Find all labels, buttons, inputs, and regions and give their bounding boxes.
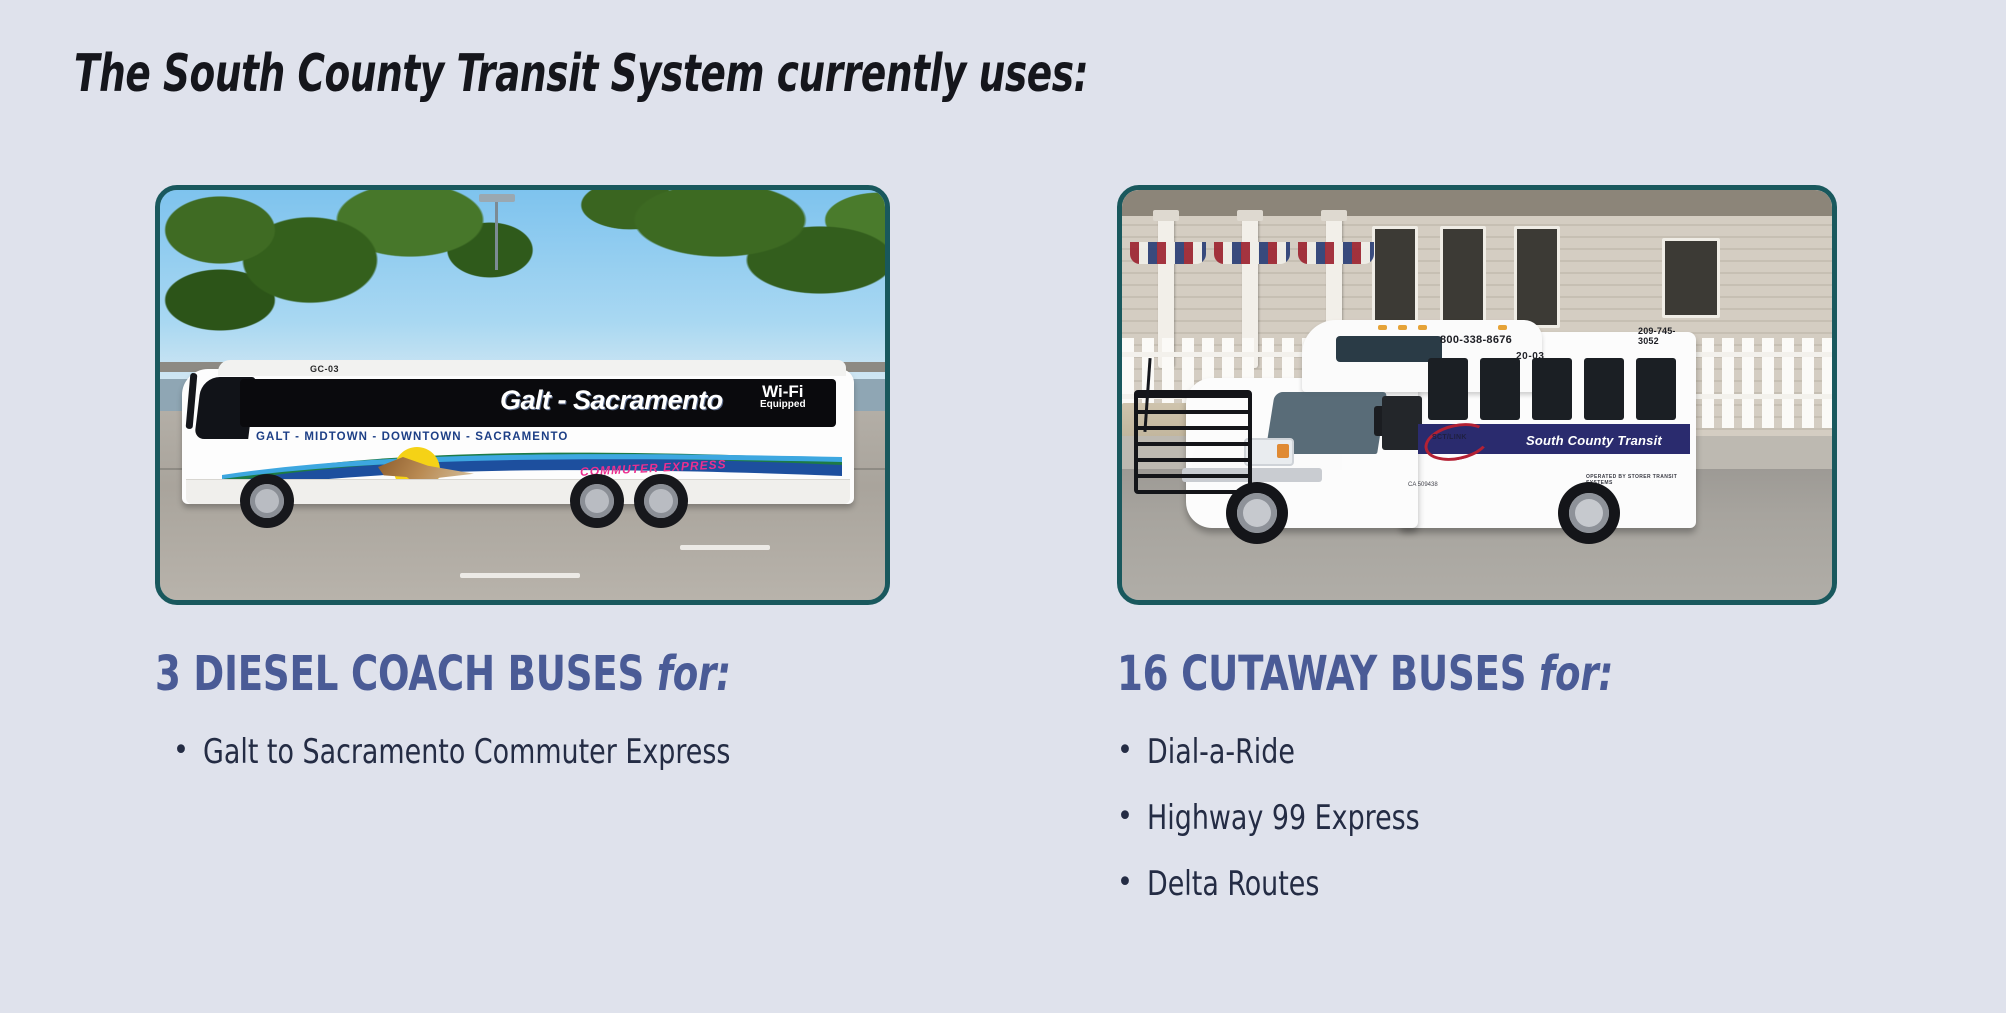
patriotic-bunting xyxy=(1130,242,1206,264)
lane-marking xyxy=(460,573,580,578)
heading-count-diesel: 3 DIESEL COACH BUSES xyxy=(155,646,644,702)
bullet-marker-icon: • xyxy=(1117,734,1147,769)
coach-route-strip: GALT - MIDTOWN - DOWNTOWN - SACRAMENTO xyxy=(256,431,568,443)
cutaway-door-window xyxy=(1382,396,1422,450)
cutaway-wheel xyxy=(1558,482,1620,544)
cutaway-local-phone: 209-745-3052 xyxy=(1638,326,1696,346)
cutaway-bus: 20-03 800-338-8676 209-745-3052 South Co… xyxy=(1186,320,1696,528)
column-cutaway: 16 CUTAWAY BUSES for: • Dial-a-Ride • Hi… xyxy=(1117,650,1857,932)
passenger-window xyxy=(1532,358,1572,420)
house-window xyxy=(1514,226,1560,328)
bullet-text: Dial-a-Ride xyxy=(1147,734,1295,770)
bullet-text: Galt to Sacramento Commuter Express xyxy=(203,734,730,770)
tree-canopy xyxy=(160,190,885,387)
ca-number-decal: CA 509438 xyxy=(1408,482,1438,488)
clearance-light xyxy=(1498,325,1507,330)
patriotic-bunting xyxy=(1214,242,1290,264)
heading-cutaway: 16 CUTAWAY BUSES for: xyxy=(1117,650,1753,698)
sct-link-logo: SCT/LINK xyxy=(1424,418,1490,464)
logo-oval-shape xyxy=(1421,418,1493,467)
passenger-window xyxy=(1480,358,1520,420)
house-roofline xyxy=(1122,190,1832,216)
patriotic-bunting xyxy=(1298,242,1374,264)
cutaway-wheel xyxy=(1226,482,1288,544)
passenger-window xyxy=(1636,358,1676,420)
coach-wifi-decal: Wi-Fi Equipped xyxy=(760,383,806,410)
heading-for-diesel: for: xyxy=(644,646,731,702)
light-pole xyxy=(495,200,498,270)
list-item: • Highway 99 Express xyxy=(1117,800,1857,836)
bullet-list-diesel: • Galt to Sacramento Commuter Express xyxy=(173,734,895,770)
column-diesel-coach: 3 DIESEL COACH BUSES for: • Galt to Sacr… xyxy=(155,650,895,800)
coach-destination-text: Galt - Sacramento xyxy=(500,385,723,416)
coach-wheel xyxy=(570,474,624,528)
bullet-text: Highway 99 Express xyxy=(1147,800,1420,836)
bullet-marker-icon: • xyxy=(1117,800,1147,835)
photo-frame-diesel-coach: GC-03 Galt - Sacramento Wi-Fi Equipped G… xyxy=(155,185,890,605)
clearance-light xyxy=(1398,325,1407,330)
coach-fleet-number: GC-03 xyxy=(310,364,339,374)
logo-text: SCT/LINK xyxy=(1432,434,1467,441)
list-item: • Dial-a-Ride xyxy=(1117,734,1857,770)
heading-count-cutaway: 16 CUTAWAY BUSES xyxy=(1117,646,1526,702)
list-item: • Delta Routes xyxy=(1117,866,1857,902)
photo-frame-cutaway: 20-03 800-338-8676 209-745-3052 South Co… xyxy=(1117,185,1837,605)
lane-marking xyxy=(680,545,770,550)
page-title: The South County Transit System currentl… xyxy=(74,44,1088,104)
bullet-marker-icon: • xyxy=(173,734,203,769)
agency-name-decal: South County Transit xyxy=(1526,433,1662,448)
photo-cutaway-bus: 20-03 800-338-8676 209-745-3052 South Co… xyxy=(1122,190,1832,600)
transit-fleet-infographic: The South County Transit System currentl… xyxy=(0,0,2006,1013)
heading-diesel-coach: 3 DIESEL COACH BUSES for: xyxy=(155,650,791,698)
bullet-list-cutaway: • Dial-a-Ride • Highway 99 Express • Del… xyxy=(1117,734,1857,902)
photo-diesel-coach-bus: GC-03 Galt - Sacramento Wi-Fi Equipped G… xyxy=(160,190,885,600)
bullet-text: Delta Routes xyxy=(1147,866,1319,902)
heading-for-cutaway: for: xyxy=(1526,646,1613,702)
bullet-marker-icon: • xyxy=(1117,866,1147,901)
cutaway-toll-free: 800-338-8676 xyxy=(1440,334,1512,346)
coach-wheel xyxy=(634,474,688,528)
passenger-window xyxy=(1428,358,1468,420)
list-item: • Galt to Sacramento Commuter Express xyxy=(173,734,895,770)
wifi-sublabel: Equipped xyxy=(760,400,806,410)
clearance-light xyxy=(1378,325,1387,330)
house-window xyxy=(1372,226,1418,328)
house-window xyxy=(1440,226,1486,328)
cutaway-roof-window xyxy=(1336,336,1442,362)
coach-wheel xyxy=(240,474,294,528)
bike-rack xyxy=(1134,390,1252,494)
house-window xyxy=(1662,238,1720,318)
passenger-window xyxy=(1584,358,1624,420)
coach-bus: GC-03 Galt - Sacramento Wi-Fi Equipped G… xyxy=(182,369,854,504)
clearance-light xyxy=(1418,325,1427,330)
wifi-label: Wi-Fi xyxy=(760,383,806,400)
